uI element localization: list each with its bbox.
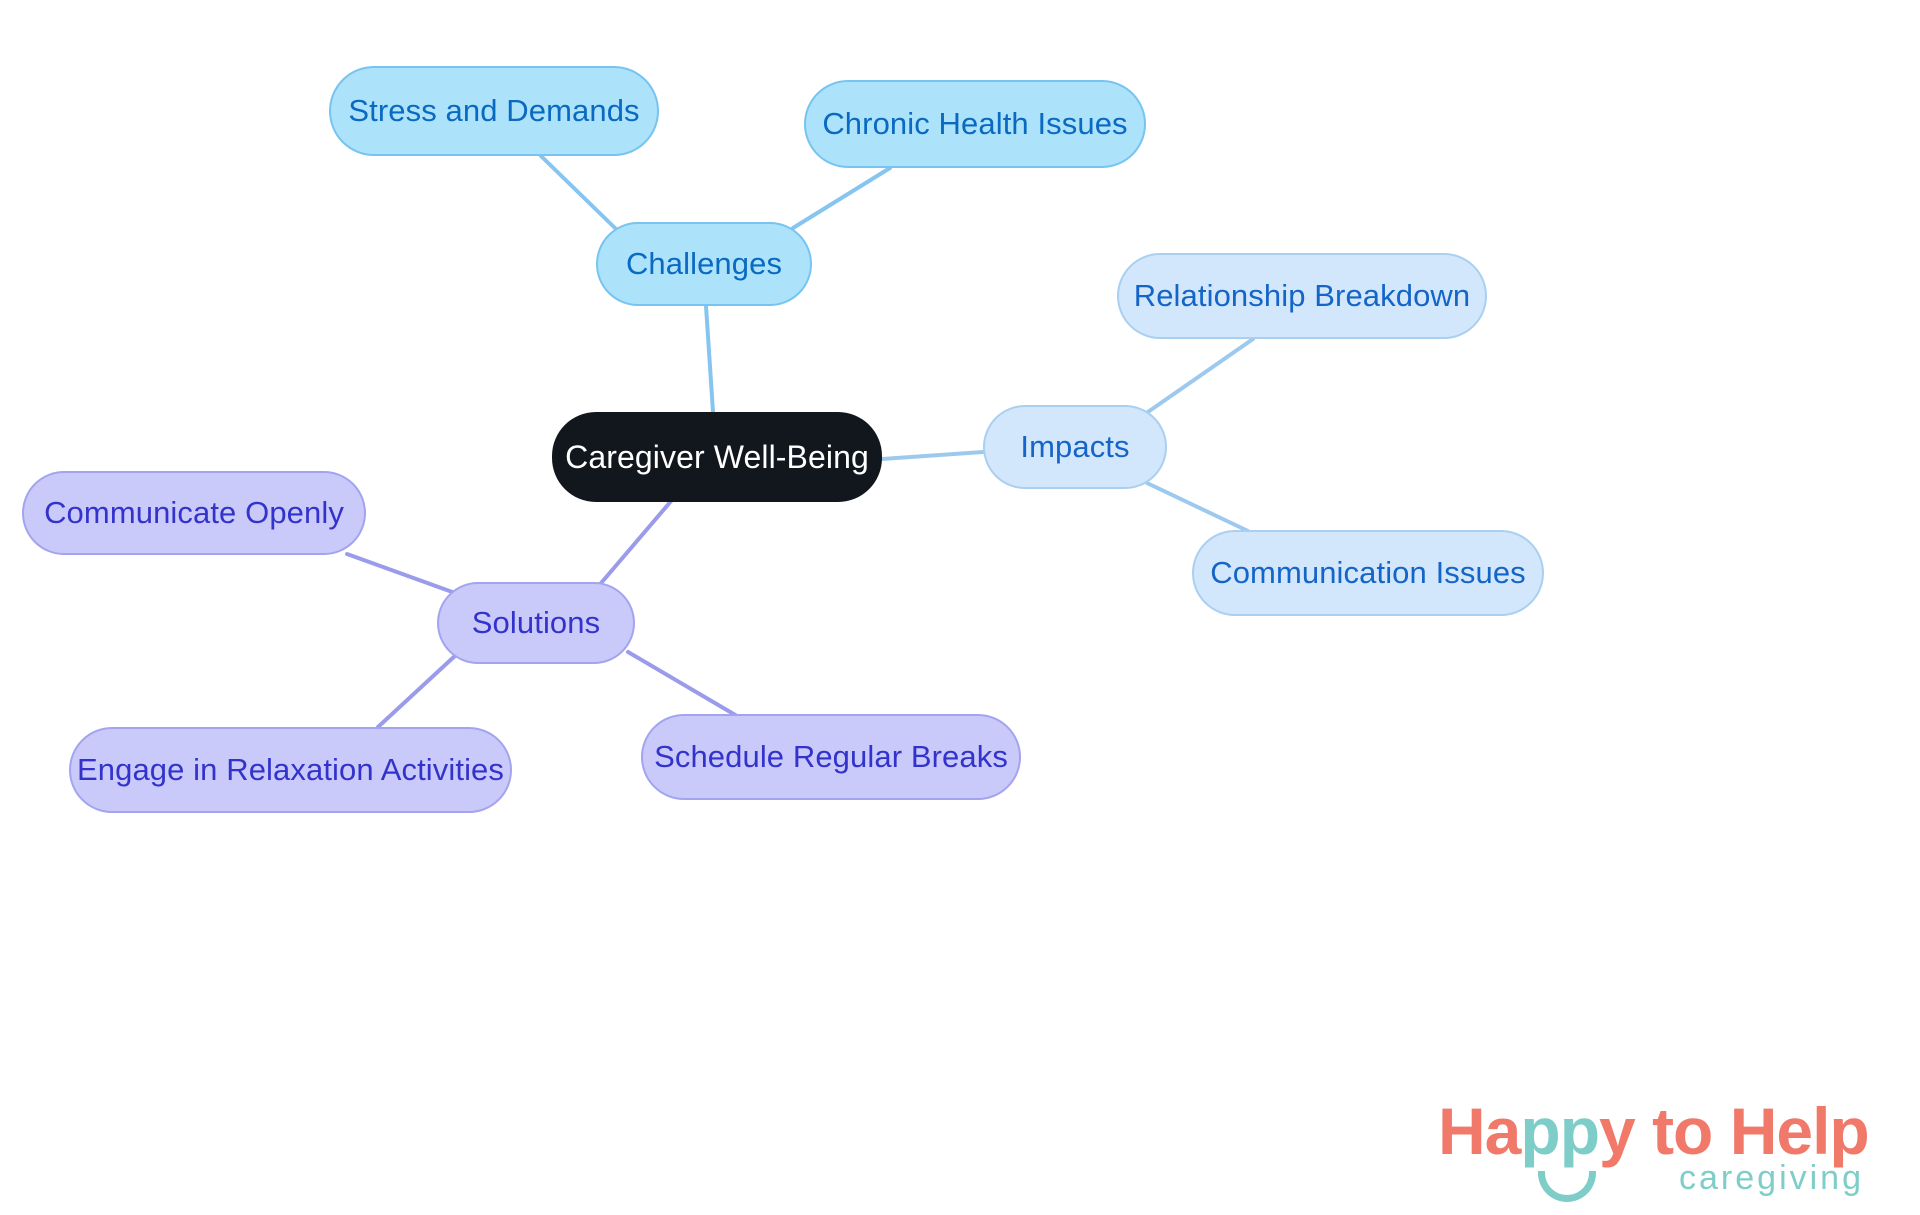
- node-label: Relationship Breakdown: [1134, 278, 1471, 314]
- edge-challenges-to-chronic-health-issues: [793, 168, 890, 228]
- node-label: Communicate Openly: [44, 495, 344, 531]
- node-label: Communication Issues: [1210, 555, 1526, 591]
- logo-word-pp: pp: [1520, 1094, 1599, 1168]
- node-label: Impacts: [1020, 429, 1129, 465]
- node-label: Caregiver Well-Being: [565, 439, 869, 476]
- logo-word-ha: Ha: [1438, 1094, 1520, 1168]
- edge-solutions-to-engage-in-relaxation-activities: [378, 654, 457, 727]
- node-label: Chronic Health Issues: [822, 106, 1127, 142]
- smile-icon: [1538, 1171, 1596, 1202]
- node-solutions[interactable]: Solutions: [437, 582, 635, 664]
- node-impacts[interactable]: Impacts: [983, 405, 1167, 489]
- logo-word-spacer1: [1635, 1094, 1652, 1168]
- mindmap-canvas: Caregiver Well-Being Challenges Stress a…: [0, 0, 1920, 1215]
- logo-word-y: y: [1599, 1094, 1635, 1168]
- logo-word-to: to: [1652, 1094, 1712, 1168]
- node-communication-issues[interactable]: Communication Issues: [1192, 530, 1544, 616]
- node-schedule-regular-breaks[interactable]: Schedule Regular Breaks: [641, 714, 1021, 800]
- edge-root-to-solutions: [596, 500, 672, 589]
- edge-challenges-to-stress-and-demands: [541, 156, 616, 229]
- happy-to-help-caregiving-logo: Happy to Help caregiving: [1438, 1095, 1868, 1207]
- node-label: Stress and Demands: [348, 93, 639, 129]
- edge-layer: [0, 0, 1920, 1215]
- node-relationship-breakdown[interactable]: Relationship Breakdown: [1117, 253, 1487, 339]
- edge-impacts-to-communication-issues: [1147, 483, 1248, 531]
- node-caregiver-well-being[interactable]: Caregiver Well-Being: [552, 412, 882, 502]
- node-challenges[interactable]: Challenges: [596, 222, 812, 306]
- edge-impacts-to-relationship-breakdown: [1145, 339, 1253, 414]
- edge-root-to-challenges: [706, 306, 713, 412]
- node-label: Challenges: [626, 246, 782, 282]
- edge-root-to-impacts: [882, 452, 983, 459]
- node-label: Solutions: [472, 605, 600, 641]
- node-engage-in-relaxation-activities[interactable]: Engage in Relaxation Activities: [69, 727, 512, 813]
- logo-wordmark: Happy to Help: [1438, 1095, 1868, 1167]
- node-stress-and-demands[interactable]: Stress and Demands: [329, 66, 659, 156]
- logo-word-help: Help: [1730, 1094, 1869, 1168]
- node-label: Schedule Regular Breaks: [654, 739, 1008, 775]
- node-communicate-openly[interactable]: Communicate Openly: [22, 471, 366, 555]
- edge-solutions-to-schedule-regular-breaks: [628, 652, 737, 716]
- node-chronic-health-issues[interactable]: Chronic Health Issues: [804, 80, 1146, 168]
- node-label: Engage in Relaxation Activities: [77, 752, 504, 788]
- logo-word-spacer2: [1712, 1094, 1729, 1168]
- logo-tagline: caregiving: [1679, 1159, 1864, 1198]
- edge-solutions-to-communicate-openly: [347, 554, 455, 593]
